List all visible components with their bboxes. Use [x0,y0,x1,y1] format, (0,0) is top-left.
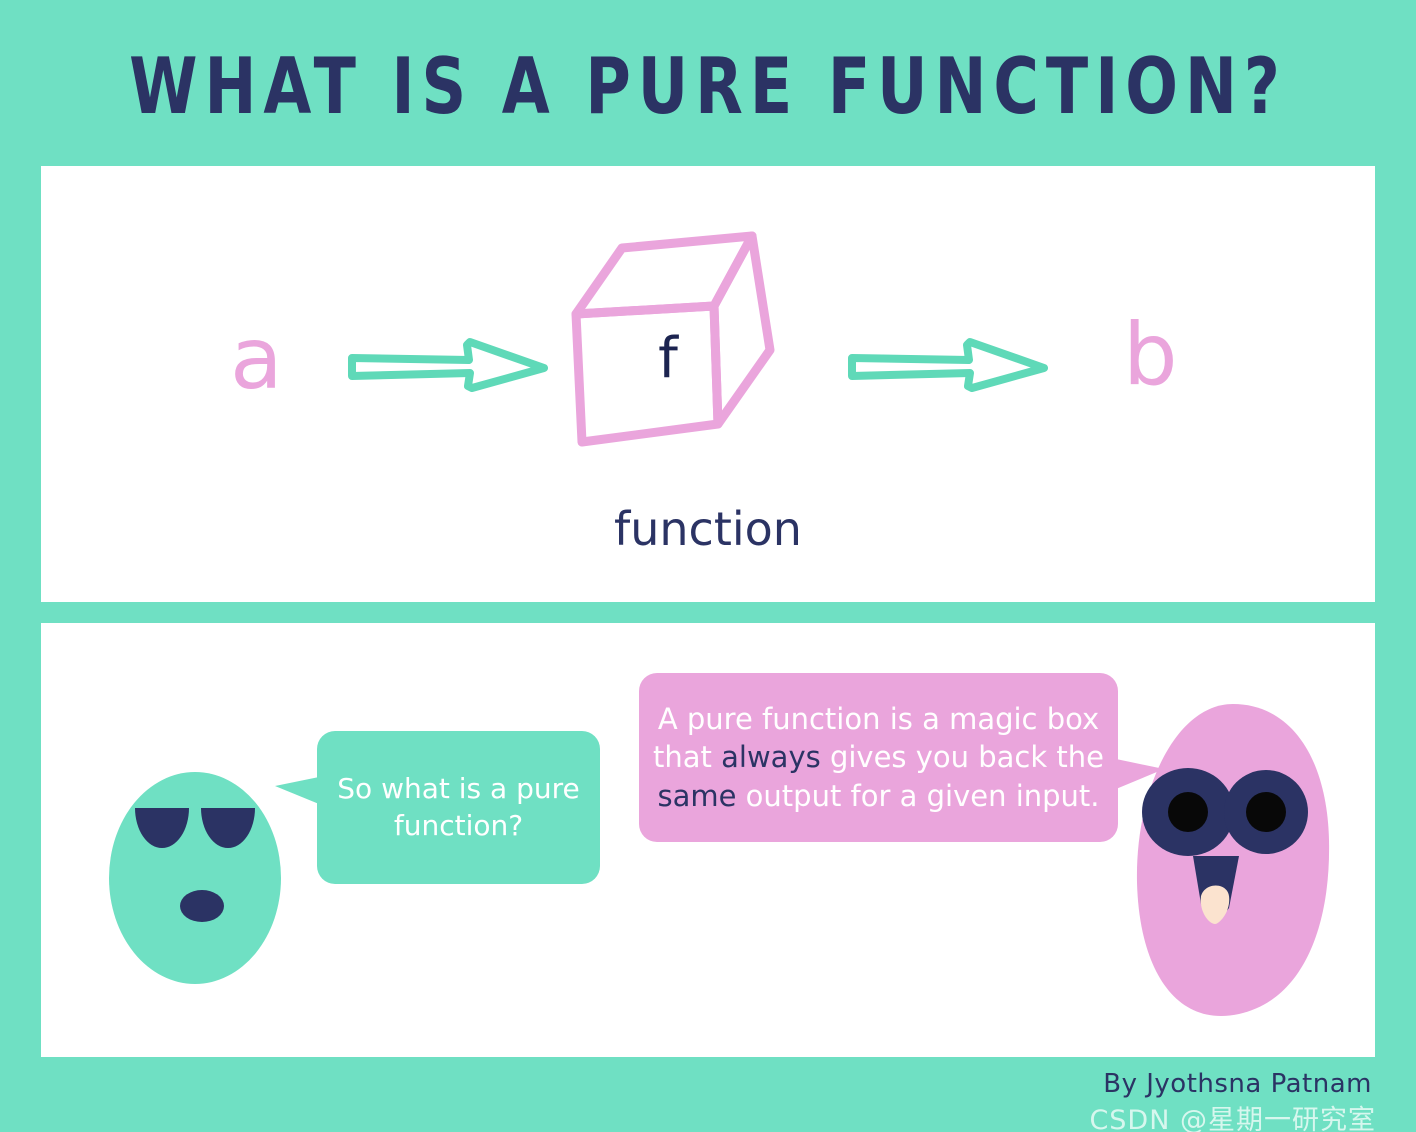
output-variable-label: b [1123,312,1178,398]
arrow-right-icon-input [348,330,548,400]
author-credit: By Jyothsna Patnam [1103,1069,1372,1099]
bubble-text-run-2: gives you back the [821,740,1104,774]
emphasis-word-1: always [721,740,821,774]
green-speech-bubble: So what is a pure function? [317,731,600,884]
input-variable-label: a [230,316,283,402]
function-caption: function [41,502,1375,556]
green-bubble-tail [275,777,319,804]
pink-speech-bubble: A pure function is a magic box that alwa… [639,673,1118,842]
bubble-text-run-4: output for a given input. [736,779,1099,813]
dialogue-panel: So what is a pure function? A pure funct… [41,623,1375,1057]
infographic-canvas: WHAT IS A PURE FUNCTION? a f [0,0,1416,1132]
magic-box-cube-icon [566,226,798,474]
diagram-panel: a f b function [41,166,1375,602]
pink-blob-character [1133,700,1333,1020]
green-bubble-text: So what is a pure function? [335,771,582,845]
green-face-character [105,766,285,986]
arrow-right-icon-output [848,330,1048,400]
csdn-watermark: CSDN @星期一研究室 [1089,1098,1376,1132]
emphasis-word-3: same [657,779,736,813]
page-title: WHAT IS A PURE FUNCTION? [0,44,1416,129]
pink-bubble-text: A pure function is a magic box that alwa… [653,700,1104,815]
